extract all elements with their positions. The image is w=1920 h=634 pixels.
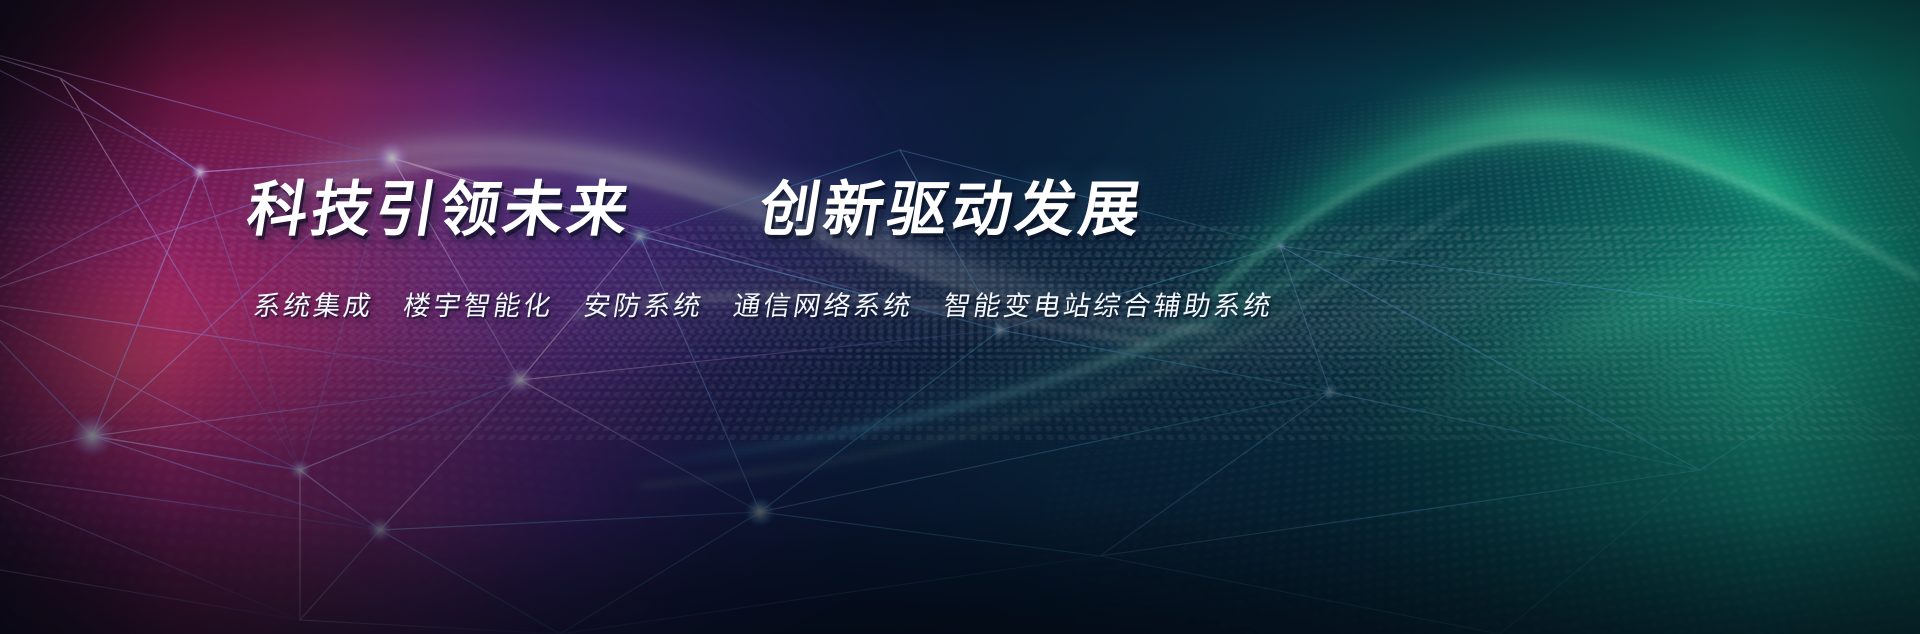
violet-wire-group bbox=[0, 40, 1000, 634]
banner-headline: 科技引领未来 创新驱动发展 bbox=[243, 178, 1279, 242]
banner-subtitle: 系统集成 楼宇智能化 安防系统 通信网络系统 智能变电站综合辅助系统 bbox=[251, 284, 1277, 323]
banner-text-block: 科技引领未来 创新驱动发展 系统集成 楼宇智能化 安防系统 通信网络系统 智能变… bbox=[248, 178, 1274, 323]
technology-banner: 科技引领未来 创新驱动发展 系统集成 楼宇智能化 安防系统 通信网络系统 智能变… bbox=[0, 0, 1920, 634]
